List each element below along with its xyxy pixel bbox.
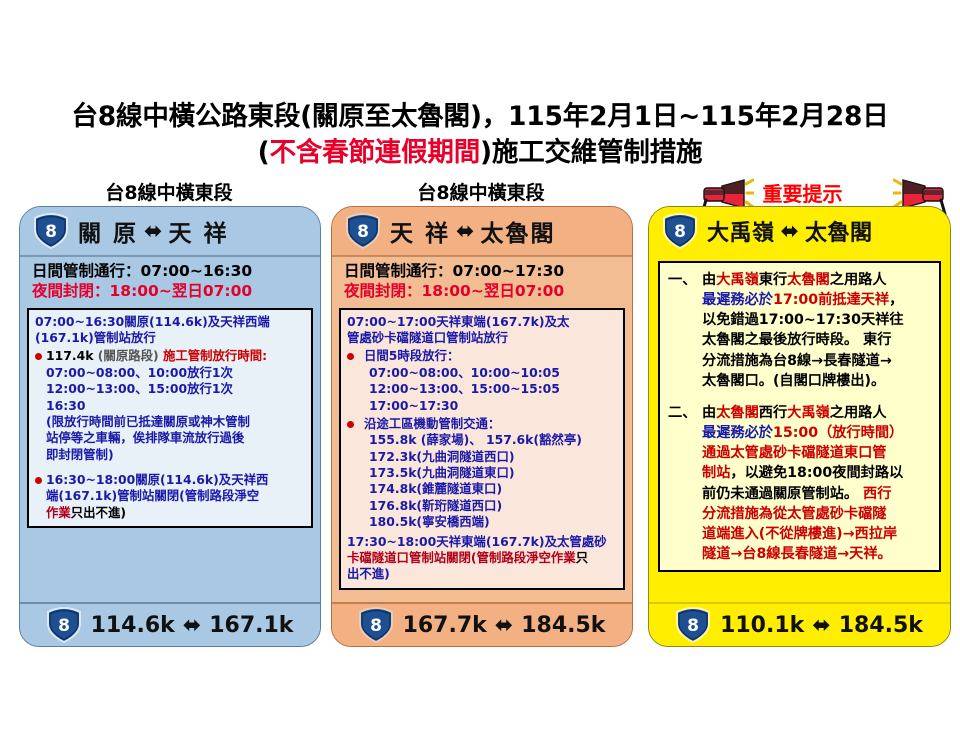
alert-text-run: 西行 — [759, 405, 787, 421]
double-arrow-icon: ⬌ — [183, 613, 201, 638]
panel1-b1-note2: 站停等之車輛，俟排隊車流放行過後 — [46, 430, 306, 446]
alert-text-run: 由 — [702, 405, 716, 421]
panel2-header: 8 天 祥 ⬌ 太魯閣 — [332, 207, 632, 255]
title-line-2: (不含春節連假期間)施工交維管制措施 — [0, 136, 960, 171]
bullet-dot-icon — [35, 477, 42, 484]
svg-text:8: 8 — [357, 222, 369, 242]
alert-text-run: 東行 — [759, 272, 787, 288]
svg-text:8: 8 — [58, 616, 70, 636]
panel1-b2-l1: 16:30~18:00關原(114.6k)及天祥西 — [46, 472, 306, 488]
panel2-b1-l2: 12:00~13:00、15:00~15:05 — [358, 381, 618, 397]
alert-text-run: 制站 — [702, 465, 730, 481]
panel1-bullet-2: 16:30~18:00關原(114.6k)及天祥西 端(167.1k)管制站關閉… — [35, 472, 306, 521]
panel1-b1-km: 117.4k — [46, 348, 93, 363]
panel2-km-row: 172.3k(九曲洞隧道西口) — [358, 449, 618, 465]
panel3-item-2-body: 由太魯閣西行大禹嶺之用路人最遲務必於15:00（放行時間）通過太管處砂卡礑隧道東… — [702, 403, 933, 564]
alert-text-run: 太魯閣 — [716, 405, 759, 421]
bullet-dot-icon — [347, 353, 354, 360]
panel3-item-1: 一、 由大禹嶺東行太魯閣之用路人最遲務必於17:00前抵達天祥，以免錯過17:0… — [668, 270, 933, 391]
bullet-dot-icon — [35, 353, 42, 360]
panel1-day-line: 日間管制通行：07:00~16:30 — [32, 262, 320, 282]
panel1-b2-l3b: 只出不進) — [71, 505, 126, 520]
alert-text-run: 之用路人 — [830, 405, 887, 421]
double-arrow-icon: ⬌ — [781, 219, 799, 244]
title-line-1: 台8線中橫公路東段(關原至太魯閣)，115年2月1日~115年2月28日 — [0, 100, 960, 135]
panel2-route-to: 太魯閣 — [480, 214, 555, 248]
panel-dayuling-taroko: 8 大禹嶺 ⬌ 太魯閣 一、 由大禹嶺東行太魯閣之用路人最遲務必於17:00前抵… — [648, 206, 951, 647]
panel1-bullet-1: 117.4k (關原路段) 施工管制放行時間: 07:00~08:00、10:0… — [35, 348, 306, 463]
panel2-km-row: 174.8k(錐麓隧道東口) — [358, 481, 618, 497]
panel3-item-1-body: 由大禹嶺東行太魯閣之用路人最遲務必於17:00前抵達天祥，以免錯過17:00~1… — [702, 270, 933, 391]
panel3-footer: 8 110.1k ⬌ 184.5k — [649, 602, 950, 646]
panel2-close-3: 出不進) — [347, 566, 618, 582]
panel1-b1-label: 施工管制放行時間: — [163, 348, 267, 363]
panel1-b1-seg: (關原路段) — [98, 348, 159, 363]
svg-text:8: 8 — [674, 222, 686, 242]
panel2-intro-2: 管處砂卡礑隧道口管制站放行 — [347, 330, 618, 346]
panel1-b2-l3a: 作業 — [46, 505, 71, 520]
bullet-dot-icon — [347, 421, 354, 428]
panel3-route: 大禹嶺 ⬌ 太魯閣 — [707, 215, 872, 247]
panel2-km-row: 176.8k(靳珩隧道西口) — [358, 498, 618, 514]
panel1-b1-note3: 即封閉管制) — [46, 447, 306, 463]
panel2-route-from: 天 祥 — [390, 214, 450, 248]
double-arrow-icon: ⬌ — [456, 219, 474, 244]
route-shield-icon: 8 — [346, 213, 380, 249]
panel1-b2-l2: 端(167.1k)管制站關閉(管制路段淨空 — [46, 488, 306, 504]
alert-text-run: 太魯閣之最後放行時段。 東行 — [702, 332, 891, 348]
panel3-details: 一、 由大禹嶺東行太魯閣之用路人最遲務必於17:00前抵達天祥，以免錯過17:0… — [658, 261, 941, 572]
spacer — [35, 463, 306, 470]
panel2-day-line: 日間管制通行：07:00~17:30 — [344, 262, 632, 282]
panel-guanyuan-tianxiang: 8 關 原 ⬌ 天 祥 日間管制通行：07:00~16:30 夜間封閉：18:0… — [19, 206, 321, 647]
alert-text-run: 通過太管處砂卡礑隧道東口管 — [702, 445, 886, 461]
panel3-item-2: 二、 由太魯閣西行大禹嶺之用路人最遲務必於15:00（放行時間）通過太管處砂卡礑… — [668, 403, 933, 564]
panel2-bullet-1: 日間5時段放行： 07:00~08:00、10:00~10:05 12:00~1… — [347, 348, 618, 414]
title-paren-open: ( — [258, 137, 270, 168]
panel1-b1-l2: 12:00~13:00、15:00放行1次 — [46, 381, 306, 397]
panel2-time-band: 日間管制通行：07:00~17:30 夜間封閉：18:00~翌日07:00 — [332, 257, 632, 306]
double-arrow-icon: ⬌ — [812, 613, 830, 638]
panel-tianxiang-taroko: 8 天 祥 ⬌ 太魯閣 日間管制通行：07:00~17:30 夜間封閉：18:0… — [331, 206, 633, 647]
alert-text-run: ，以避免18:00夜間封路以 — [730, 465, 903, 481]
poster-root: 台8線中橫公路東段(關原至太魯閣)，115年2月1日~115年2月28日 (不含… — [0, 0, 960, 750]
alert-text-run: ， — [889, 292, 903, 308]
panel1-details: 07:00~16:30關原(114.6k)及天祥西端(167.1k)管制站放行 … — [27, 308, 313, 529]
panel2-night-line: 夜間封閉：18:00~翌日07:00 — [344, 282, 632, 302]
panel1-footer: 8 114.6k ⬌ 167.1k — [20, 602, 320, 646]
alert-text-run: 以免錯過17:00~17:30天祥往 — [702, 312, 904, 328]
double-arrow-icon: ⬌ — [495, 613, 513, 638]
title-highlight: 不含春節連假期間 — [270, 137, 480, 168]
panel2-km-list: 155.8k (薛家場)、 157.6k(豁然亭)172.3k(九曲洞隧道西口)… — [358, 432, 618, 530]
panel1-b1-l1: 07:00~08:00、10:00放行1次 — [46, 365, 306, 381]
panel1-route: 關 原 ⬌ 天 祥 — [78, 214, 228, 248]
panel1-route-to: 天 祥 — [168, 214, 228, 248]
route-shield-icon: 8 — [47, 607, 81, 643]
panel1-night-line: 夜間封閉：18:00~翌日07:00 — [32, 282, 320, 302]
route-shield-icon: 8 — [34, 213, 68, 249]
alert-text-run: 分流措施為台8線→長春隧道→ — [702, 353, 892, 369]
spacer — [668, 391, 933, 403]
alert-text-run: 太魯閣 — [787, 272, 830, 288]
panel1-b1-l3: 16:30 — [46, 398, 306, 414]
alert-text-run: 最遲務必於 — [702, 292, 773, 308]
panel2-b1-head: 日間5時段放行： — [358, 348, 618, 364]
route-shield-icon: 8 — [359, 607, 393, 643]
svg-text:8: 8 — [45, 222, 57, 242]
alert-text-run: 隧道→台8線長春隧道→天祥。 — [702, 546, 892, 562]
route-shield-icon: 8 — [663, 213, 697, 249]
alert-text-run: 前仍未通過關原管制站。 — [702, 486, 863, 502]
panel2-close-2a: 卡礑隧道口管制站關閉(管制路段淨空作業 — [347, 550, 576, 565]
panel1-route-from: 關 原 — [78, 214, 138, 248]
route-shield-icon: 8 — [676, 607, 710, 643]
panel1-time-band: 日間管制通行：07:00~16:30 夜間封閉：18:00~翌日07:00 — [20, 257, 320, 306]
panel2-b2-head: 沿途工區機動管制交通： — [358, 416, 618, 432]
panel2-km-to: 184.5k — [521, 613, 605, 638]
svg-text:8: 8 — [370, 616, 382, 636]
panel2-close-2b: 只 — [576, 550, 588, 565]
panel3-km-range: 110.1k ⬌ 184.5k — [720, 613, 923, 638]
panel2-b1-l3: 17:00~17:30 — [358, 398, 618, 414]
panel1-b1-note1: (限放行時間前已抵達關原或神木管制 — [46, 414, 306, 430]
alert-text-run: 之用路人 — [830, 272, 887, 288]
panel3-header: 8 大禹嶺 ⬌ 太魯閣 — [649, 207, 950, 255]
title-line2-rest: )施工交維管制措施 — [480, 137, 702, 168]
column-title-2: 台8線中橫東段 — [331, 178, 631, 205]
panel1-km-to: 167.1k — [209, 613, 293, 638]
panel1-km-range: 114.6k ⬌ 167.1k — [91, 613, 294, 638]
svg-text:8: 8 — [687, 616, 699, 636]
panel2-km-from: 167.7k — [403, 613, 487, 638]
column-title-1: 台8線中橫東段 — [19, 178, 319, 205]
panel3-km-from: 110.1k — [720, 613, 804, 638]
panel2-footer: 8 167.7k ⬌ 184.5k — [332, 602, 632, 646]
panel2-intro-1: 07:00~17:00天祥東端(167.7k)及太 — [347, 314, 618, 330]
alert-text-run: 道端進入(不從牌樓進)→西拉岸 — [702, 526, 897, 542]
alert-text-run: 大禹嶺 — [716, 272, 759, 288]
page-title: 台8線中橫公路東段(關原至太魯閣)，115年2月1日~115年2月28日 (不含… — [0, 100, 960, 171]
alert-text-run: 17:00前抵達天祥 — [773, 292, 889, 308]
panel2-close-1: 17:30~18:00天祥東端(167.7k)及太管處砂 — [347, 534, 618, 550]
panel2-route: 天 祥 ⬌ 太魯閣 — [390, 214, 555, 248]
alert-text-run: 15:00（放行時間） — [773, 425, 903, 441]
panel1-km-from: 114.6k — [91, 613, 175, 638]
panel2-km-row: 173.5k(九曲洞隧道東口) — [358, 465, 618, 481]
panel1-b1-head: 117.4k (關原路段) 施工管制放行時間: — [46, 348, 306, 364]
double-arrow-icon: ⬌ — [144, 219, 162, 244]
panel2-b1-l1: 07:00~08:00、10:00~10:05 — [358, 365, 618, 381]
panel2-km-row: 180.5k(寧安橋西端) — [358, 514, 618, 530]
alert-text-run: 大禹嶺 — [787, 405, 830, 421]
panel3-item-2-number: 二、 — [668, 403, 702, 564]
panel3-item-1-number: 一、 — [668, 270, 702, 391]
panel2-km-range: 167.7k ⬌ 184.5k — [403, 613, 606, 638]
panel1-header: 8 關 原 ⬌ 天 祥 — [20, 207, 320, 255]
panel2-details: 07:00~17:00天祥東端(167.7k)及太 管處砂卡礑隧道口管制站放行 … — [339, 308, 625, 590]
alert-text-run: 分流措施為從太管處砂卡礑隧 — [702, 506, 886, 522]
panel3-km-to: 184.5k — [839, 613, 923, 638]
alert-text-run: 西行 — [863, 486, 891, 502]
alert-text-run: 由 — [702, 272, 716, 288]
alert-text-run: 太魯閣口。(自閣口牌樓出)。 — [702, 373, 885, 389]
panel2-close-2: 卡礑隧道口管制站關閉(管制路段淨空作業只 — [347, 550, 618, 566]
panel1-b2-l3: 作業只出不進) — [46, 505, 306, 521]
panel1-intro: 07:00~16:30關原(114.6k)及天祥西端(167.1k)管制站放行 — [35, 314, 306, 347]
panel3-route-from: 大禹嶺 — [707, 215, 775, 247]
panel2-bullet-2: 沿途工區機動管制交通： 155.8k (薛家場)、 157.6k(豁然亭)172… — [347, 416, 618, 531]
panel3-route-to: 太魯閣 — [805, 215, 873, 247]
panel2-km-row: 155.8k (薛家場)、 157.6k(豁然亭) — [358, 432, 618, 448]
alert-text-run: 最遲務必於 — [702, 425, 773, 441]
